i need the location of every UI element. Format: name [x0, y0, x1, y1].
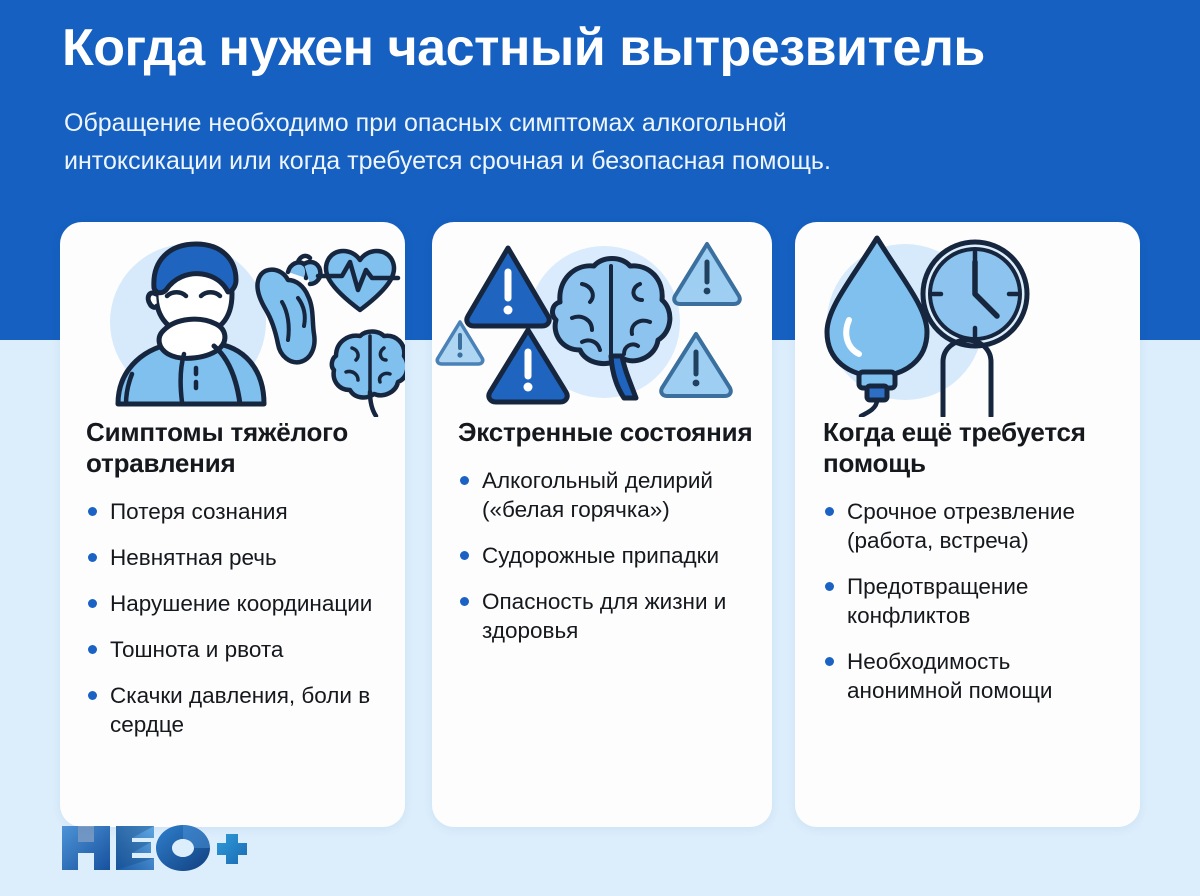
card-1-bullet-list: Потеря сознания Невнятная речь Нарушение… [60, 497, 405, 739]
card-3-bullet-list: Срочное отрезвление (работа, встреча) Пр… [795, 497, 1140, 705]
neo-plus-logo-icon [58, 822, 248, 874]
anatomical-heart-icon [258, 256, 321, 362]
heart-pulse-icon [318, 251, 398, 310]
card-emergency-conditions: Экстренные состояния Алкогольный делирий… [432, 222, 772, 827]
list-item: Скачки давления, боли в сердце [86, 681, 389, 739]
card-2-bullet-list: Алкогольный делирий («белая горячка») Су… [432, 466, 772, 645]
warning-triangle-icon [674, 244, 740, 304]
brand-logo[interactable]: НЕО + [58, 822, 248, 874]
card-2-illustration [432, 222, 772, 417]
card-1-illustration [60, 222, 405, 417]
cards-container: Симптомы тяжёлого отравления Потеря созн… [0, 0, 1200, 896]
list-item: Судорожные припадки [458, 541, 756, 570]
list-item: Нарушение координации [86, 589, 389, 618]
list-item: Опасность для жизни и здоровья [458, 587, 756, 645]
list-item: Невнятная речь [86, 543, 389, 572]
list-item: Потеря сознания [86, 497, 389, 526]
list-item: Алкогольный делирий («белая горячка») [458, 466, 756, 524]
list-item: Срочное отрезвление (работа, встреча) [823, 497, 1130, 555]
brain-icon [332, 332, 405, 417]
list-item: Предотвращение конфликтов [823, 572, 1130, 630]
card-severe-poisoning-symptoms: Симптомы тяжёлого отравления Потеря созн… [60, 222, 405, 827]
list-item: Необходимость анонимной помощи [823, 647, 1130, 705]
list-item: Тошнота и рвота [86, 635, 389, 664]
card-3-heading: Когда ещё требуется помощь [795, 417, 1140, 479]
card-when-else-help-needed: Когда ещё требуется помощь Срочное отрез… [795, 222, 1140, 827]
card-3-illustration [795, 222, 1140, 417]
card-1-heading: Симптомы тяжёлого отравления [60, 417, 405, 479]
card-2-heading: Экстренные состояния [432, 417, 772, 448]
clock-icon [923, 242, 1027, 346]
